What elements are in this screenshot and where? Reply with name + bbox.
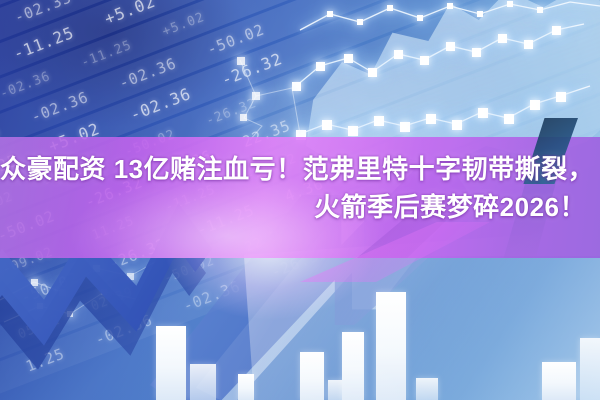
chart-node (240, 114, 247, 121)
bar-column (342, 332, 364, 400)
chart-nodes-mid (292, 26, 561, 91)
bar-column (156, 326, 186, 400)
chart-line-mid (296, 24, 584, 86)
bar-column (238, 374, 254, 400)
bar-column (416, 378, 438, 400)
bar-column (190, 364, 216, 400)
bar-column (542, 362, 576, 400)
chart-line-left-network-b (256, 88, 300, 134)
bar-chart-columns (0, 260, 600, 400)
bar-column (580, 338, 600, 400)
bar-column (376, 292, 406, 400)
chart-nodes-lower (296, 92, 566, 140)
banner-image: -01.25 -02.36 +45.02 -11.25 21.36 -50.02… (0, 0, 600, 400)
chart-node (237, 57, 245, 65)
chart-node (252, 92, 260, 100)
bar-column (300, 352, 324, 400)
chart-nodes-upper (327, 1, 543, 25)
